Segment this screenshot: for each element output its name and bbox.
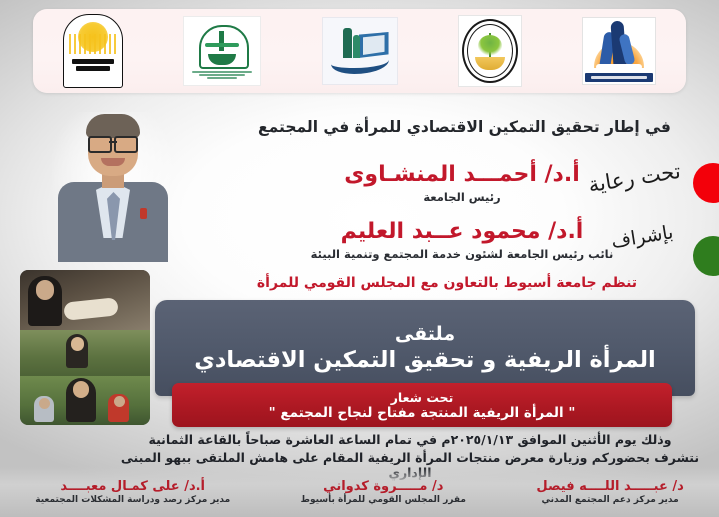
face-shape: [73, 381, 89, 398]
logo-civil-society-support-center: [322, 17, 398, 85]
band-shape: [205, 43, 239, 47]
supervisor-name: أ.د/ محمود عــبد العليم: [205, 220, 719, 244]
hair-shape: [86, 114, 140, 138]
patron-name: أ.د/ أحمـــد المنشـاوى: [205, 163, 719, 187]
glasses-icon: [88, 136, 138, 149]
supervisor-block: أ.د/ محمود عــبد العليم نائب رئيس الجامع…: [205, 220, 719, 261]
bread-shape: [63, 297, 119, 321]
footer-person-name: د/ مـــــروة كدواني: [301, 479, 466, 494]
face-shape: [36, 280, 54, 300]
footer-person-title: مقرر المجلس القومي للمرأة بأسيوط: [301, 495, 466, 505]
collage-photo-family: [20, 376, 150, 425]
footer-signatories: د/ عبـــــد اللــــه فيصل مدير مركز دعم …: [0, 467, 719, 517]
slogan-text: " المرأة الريفية المنتجة مفتاح لنجاح الم…: [269, 405, 576, 421]
lapel-pin-shape: [140, 208, 147, 219]
logo-social-problems-research-center: [183, 16, 261, 86]
logo-caption-lines: [190, 70, 254, 80]
logo-assiut-university: [63, 14, 123, 88]
collage-photo-baking: [20, 270, 150, 332]
patron-block: أ.د/ أحمـــد المنشـاوى رئيس الجامعة: [205, 163, 719, 204]
event-kicker: ملتقى: [395, 323, 455, 345]
supervisor-role: نائب رئيس الجامعة لشئون خدمة المجتمع وتن…: [205, 247, 719, 261]
event-datetime-line: وذلك يوم الأثنين الموافق ٢٠٢٥/١/١٣م في ت…: [120, 432, 700, 447]
slogan-label: تحت شعار: [391, 390, 454, 405]
logo-art: [329, 26, 391, 76]
logo-community-service-agriculture: [458, 15, 522, 87]
sun-icon: [78, 22, 108, 52]
minaret-shape: [219, 31, 224, 51]
face-shape: [39, 398, 50, 409]
collage-photo-field: [20, 330, 150, 380]
footer-person: د/ مـــــروة كدواني مقرر المجلس القومي ل…: [301, 479, 466, 505]
logo-art: [588, 20, 650, 72]
logo-art: [462, 19, 518, 83]
logo-art: [195, 22, 249, 68]
event-title: المرأة الريفية و تحقيق التمكين الاقتصادي: [194, 347, 655, 373]
intro-line: في إطار تحقيق التمكين الاقتصادي للمرأة ف…: [210, 118, 719, 136]
organizer-line: تنظم جامعة أسيوط بالتعاون مع المجلس القو…: [175, 275, 719, 291]
sun-rays: [69, 34, 117, 54]
patron-portrait-photo: [52, 112, 174, 262]
logo-caption-bar: [585, 73, 653, 82]
logo-caption-lines: [71, 57, 115, 73]
logo-bar: [33, 9, 686, 93]
event-poster: في إطار تحقيق التمكين الاقتصادي للمرأة ف…: [0, 0, 719, 517]
logo-national-council-women: [582, 17, 656, 85]
event-title-banner: ملتقى المرأة الريفية و تحقيق التمكين الا…: [155, 300, 695, 396]
footer-person: أ.د/ على كمـال معبــــد مدير مركز رصد ود…: [35, 479, 230, 505]
footer-person-name: د/ عبـــــد اللــــه فيصل: [536, 479, 683, 494]
slogan-banner: تحت شعار " المرأة الريفية المنتجة مفتاح …: [172, 383, 672, 427]
leaf-shape: [478, 35, 502, 57]
footer-person: د/ عبـــــد اللــــه فيصل مدير مركز دعم …: [536, 479, 683, 505]
footer-person-name: أ.د/ على كمـال معبــــد: [35, 479, 230, 494]
rural-women-photo-collage: [20, 270, 150, 425]
footer-person-title: مدير مركز رصد ودراسة المشكلات المجتمعية: [35, 495, 230, 505]
base-shape: [596, 64, 642, 70]
swoosh-shape: [331, 50, 389, 74]
face-shape: [114, 396, 125, 407]
patron-role: رئيس الجامعة: [205, 190, 719, 204]
face-shape: [71, 337, 84, 351]
footer-person-title: مدير مركز دعم المجتمع المدني: [536, 495, 683, 505]
